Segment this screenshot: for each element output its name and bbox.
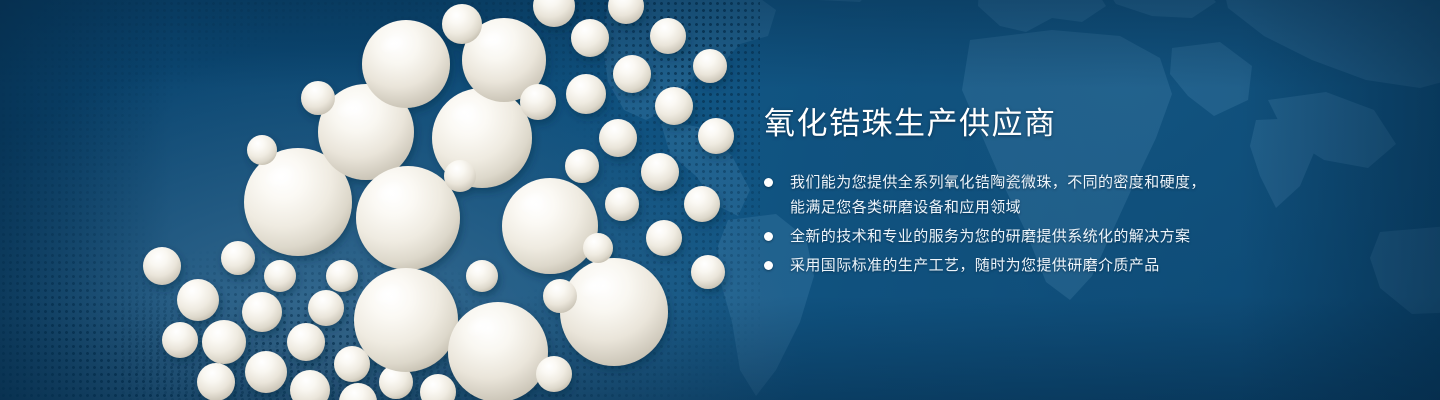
banner-headline: 氧化锆珠生产供应商 [764, 104, 1212, 144]
banner-copy: 氧化锆珠生产供应商 我们能为您提供全系列氧化锆陶瓷微珠，不同的密度和硬度，能满足… [762, 104, 1212, 278]
bullet-dot-icon [764, 261, 773, 270]
bullet-dot-icon [764, 178, 773, 187]
bullet-text: 我们能为您提供全系列氧化锆陶瓷微珠，不同的密度和硬度，能满足您各类研磨设备和应用… [790, 174, 1206, 216]
list-item: 我们能为您提供全系列氧化锆陶瓷微珠，不同的密度和硬度，能满足您各类研磨设备和应用… [762, 170, 1212, 220]
hero-banner: 氧化锆珠生产供应商 我们能为您提供全系列氧化锆陶瓷微珠，不同的密度和硬度，能满足… [0, 0, 1440, 400]
bullet-text: 采用国际标准的生产工艺，随时为您提供研磨介质产品 [790, 257, 1160, 274]
banner-bullet-list: 我们能为您提供全系列氧化锆陶瓷微珠，不同的密度和硬度，能满足您各类研磨设备和应用… [762, 170, 1212, 278]
bullet-text: 全新的技术和专业的服务为您的研磨提供系统化的解决方案 [790, 228, 1190, 245]
bullet-dot-icon [764, 232, 773, 241]
list-item: 采用国际标准的生产工艺，随时为您提供研磨介质产品 [762, 253, 1212, 278]
zirconia-beads-image [120, 0, 760, 400]
list-item: 全新的技术和专业的服务为您的研磨提供系统化的解决方案 [762, 224, 1212, 249]
